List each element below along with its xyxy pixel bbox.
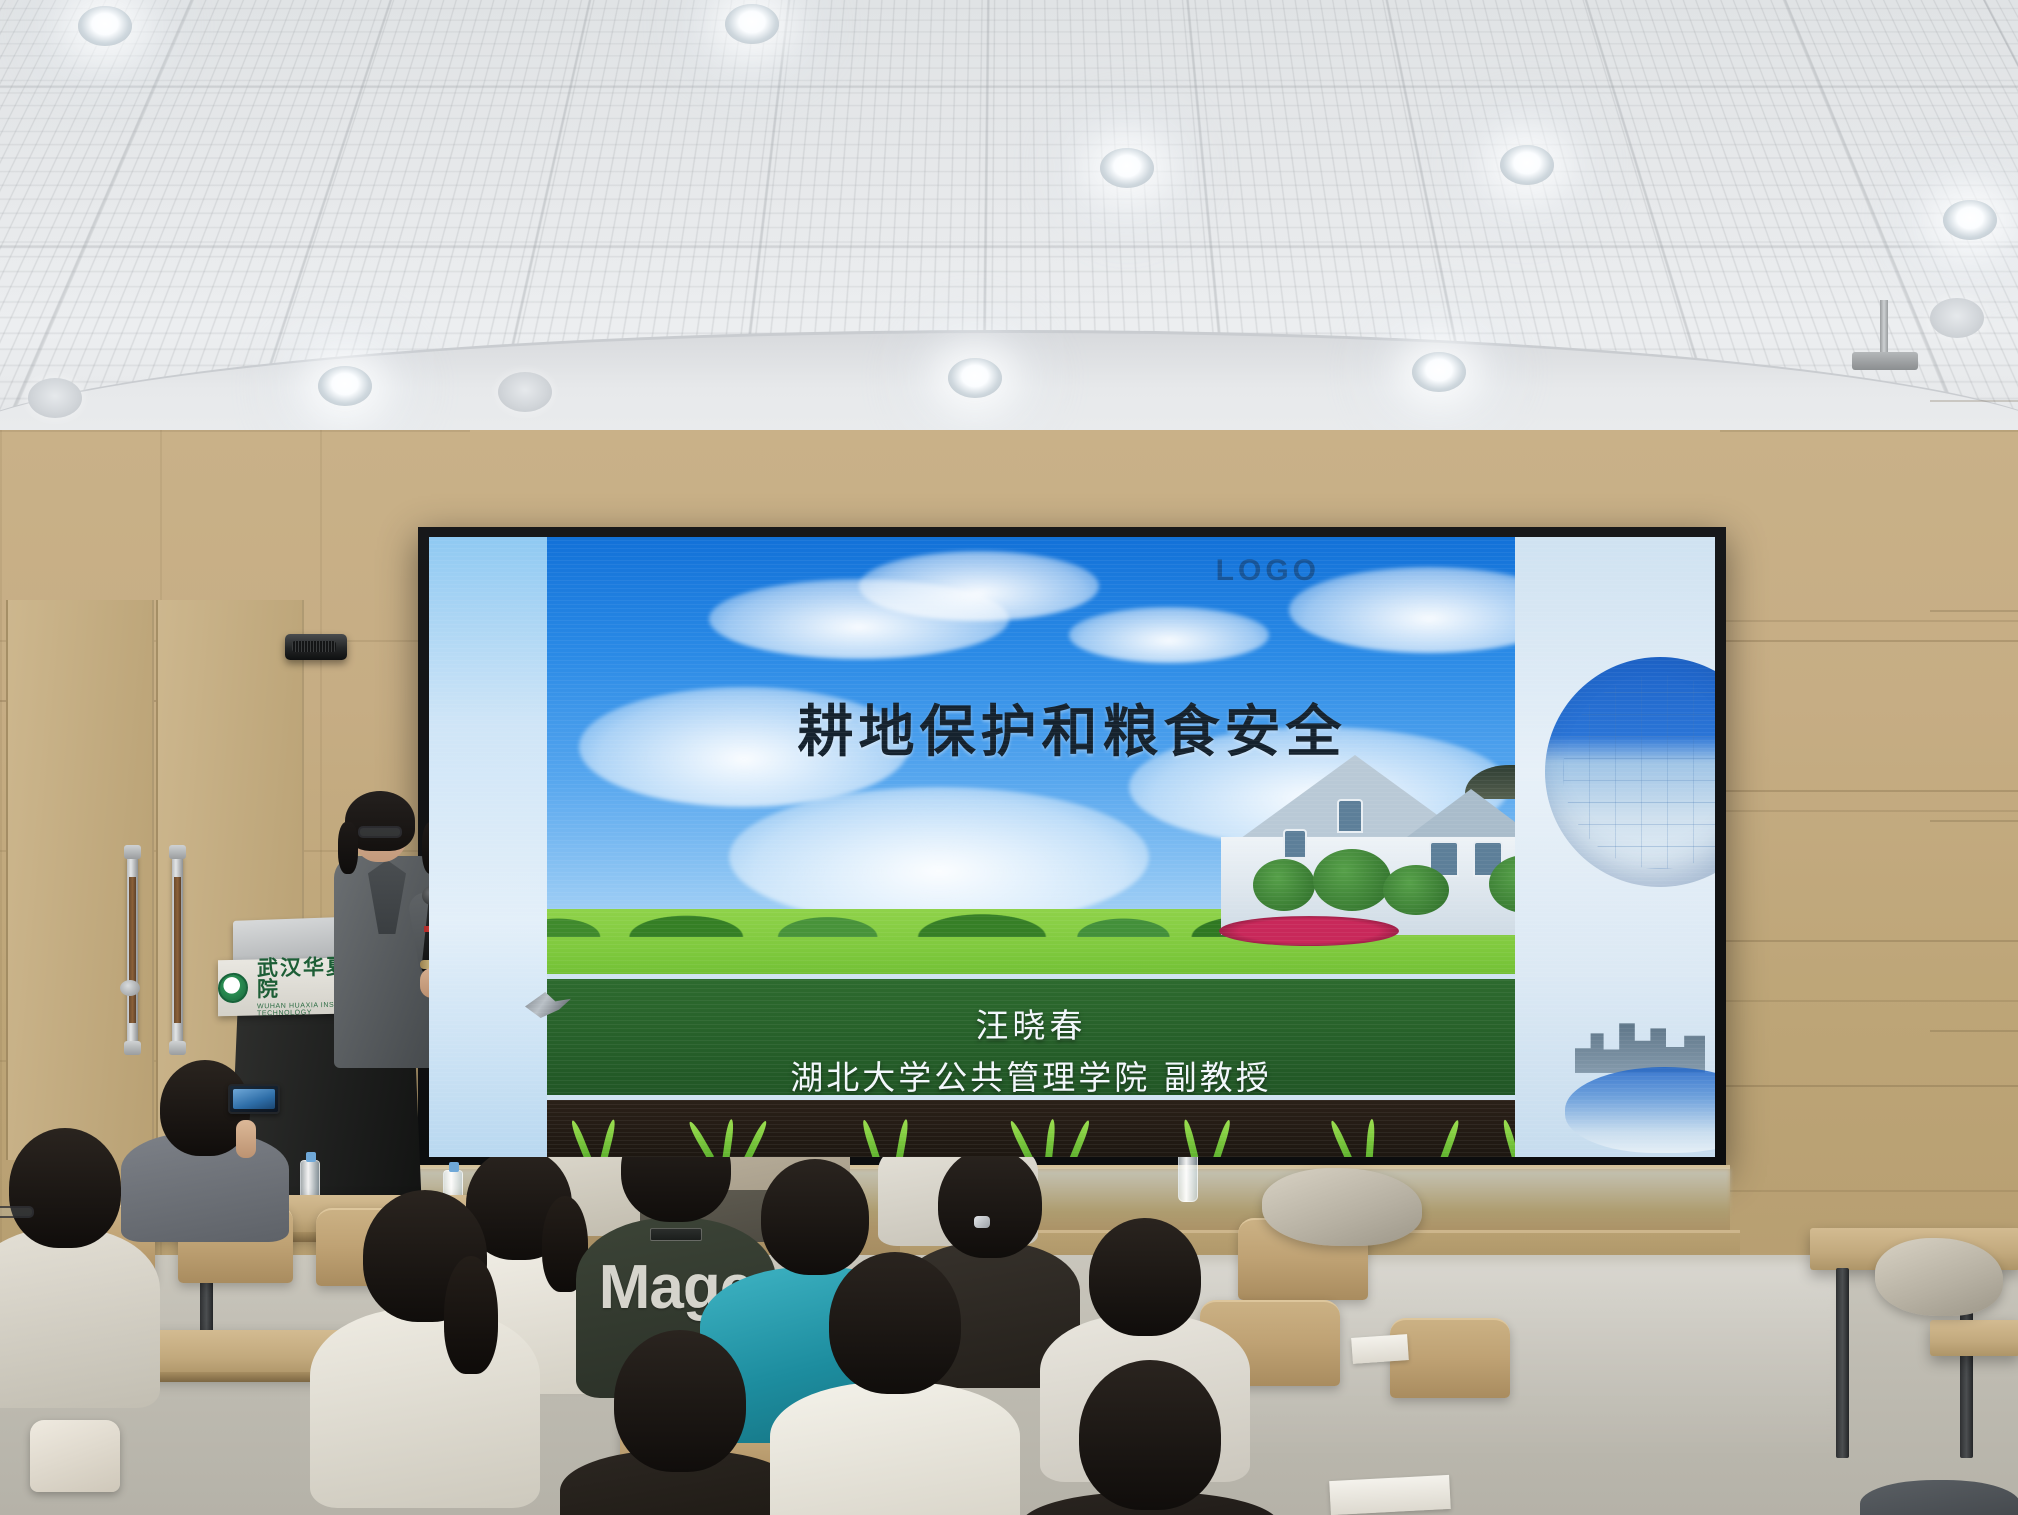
phone-screen [233,1089,275,1109]
presentation-slide: 汪晓春 湖北大学公共管理学院 副教授 [429,537,1715,1157]
audience-head [9,1128,121,1248]
door-lock-icon[interactable] [120,980,140,996]
audience-head [1089,1218,1201,1336]
audience-member [310,1190,540,1490]
lecture-hall-scene: 汪晓春 湖北大学公共管理学院 副教授 [0,0,2018,1515]
slide-caption-band: 汪晓春 湖北大学公共管理学院 副教授 [547,974,1515,1114]
lecture-desk [1930,1320,2018,1356]
ceiling-downlight-off [1930,298,1984,338]
flowerbed [1219,916,1399,946]
ponytail [444,1256,498,1374]
audience-torso [310,1308,540,1508]
audience-torso [0,1228,160,1408]
ceiling-downlight [318,366,372,406]
globe-reflection [1565,1067,1715,1153]
door-handle-grip [174,877,181,1023]
slide-logo-placeholder: LOGO [1216,554,1320,588]
university-emblem-icon [218,973,248,1004]
glasses-icon [0,1206,34,1218]
hair-clip-icon [974,1216,990,1228]
audience-member [0,1128,160,1388]
handbag [30,1420,120,1492]
shrub-icon [1313,849,1391,911]
wall-seam [1722,640,2018,642]
audience-torso [770,1382,1020,1515]
draped-jacket [1262,1168,1422,1246]
villa-house-graphic [1197,737,1567,952]
audience-member [1020,1360,1280,1515]
ceiling-downlight [1412,352,1466,392]
wall-seam [1722,790,2018,792]
smartphone-icon[interactable] [228,1084,280,1114]
audience-head [829,1252,961,1394]
slide-globe-panel [1515,537,1715,1157]
raised-hand [236,1120,256,1158]
audience-member [560,1330,800,1515]
slide-crop-strip [547,1095,1515,1157]
slide-title: 耕地保护和粮食安全 [429,687,1715,768]
right-wall-far-panel [1930,400,2018,1330]
slide-presenter-affiliation: 湖北大学公共管理学院 副教授 [547,1051,1515,1099]
audience-head [1079,1360,1221,1510]
ceiling-downlight-off [28,378,82,418]
slide-left-band [429,537,547,1157]
cloud-icon [859,551,1099,621]
audience-head [938,1148,1042,1258]
water-bottle [1178,1150,1198,1202]
desk-leg [1836,1268,1849,1458]
wall-speaker-icon [285,634,347,660]
led-screen-bezel: 汪晓春 湖北大学公共管理学院 副教授 [418,527,1726,1167]
ceiling-downlight [725,4,779,44]
ceiling-downlight [78,6,132,46]
paper-sheet [1329,1475,1451,1515]
audience-member [770,1252,1020,1515]
glasses-icon [358,826,402,838]
city-skyline-icon [1575,1011,1705,1073]
ceiling-downlight [1100,148,1154,188]
villa-window [1337,799,1363,833]
door-handle-icon[interactable] [127,855,138,1045]
wall-seam [1722,1085,2018,1087]
audience-member [1860,1440,2018,1515]
presenter-hair-side [338,822,358,874]
audience-head [614,1330,746,1472]
slide-presenter-name: 汪晓春 [547,999,1515,1047]
cloud-icon [1069,607,1269,663]
ceiling-downlight [1500,145,1554,185]
draped-jacket [1875,1238,2003,1316]
ceiling-downlight-off [498,372,552,412]
ceiling-downlight [948,358,1002,398]
wall-seam [1722,940,2018,942]
door-handle-grip [129,877,136,1023]
ceiling-downlight [1943,200,1997,240]
audience-torso [1860,1480,2018,1515]
ceiling-fixture-head [1852,352,1918,370]
paper-sheet [1351,1334,1409,1364]
villa-window [1283,829,1307,859]
shirt-collar-tag [650,1228,702,1241]
door-handle-icon[interactable] [172,855,183,1045]
